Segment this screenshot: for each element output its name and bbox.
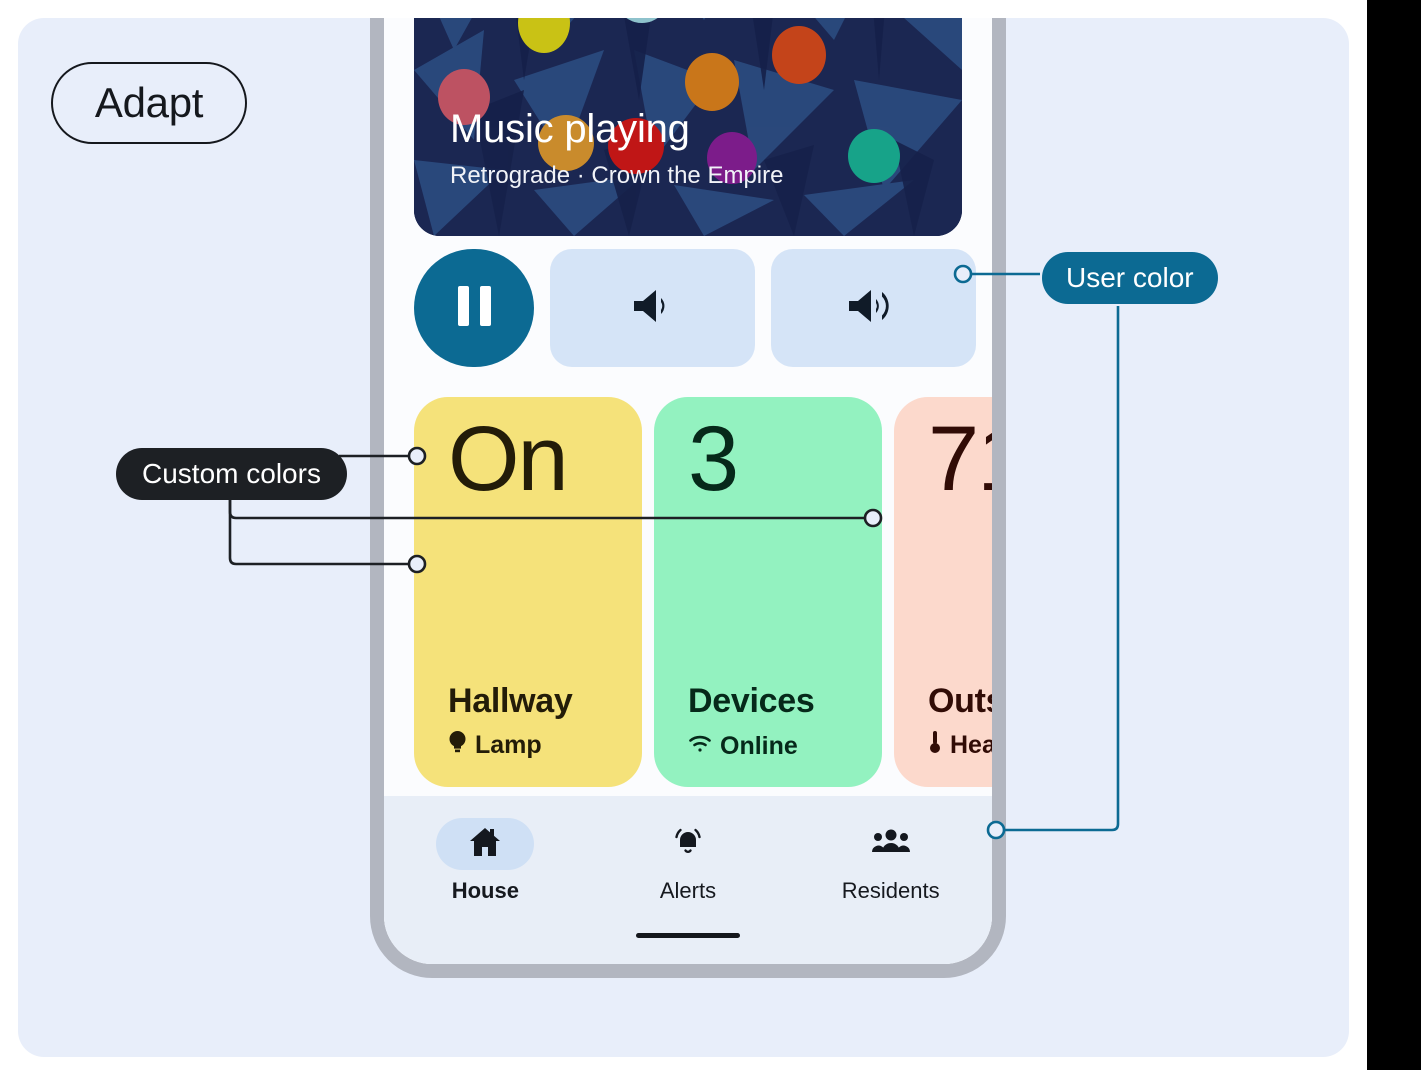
phone-frame: 3 speakers Music playing Retrograde · Cr… xyxy=(370,18,1006,978)
tile-row: On Hallway Lamp 3 Devices xyxy=(414,397,992,787)
nav-item-house[interactable]: House xyxy=(384,818,587,964)
page-sheet: Adapt xyxy=(0,0,1367,1070)
bell-icon xyxy=(671,825,705,864)
tile-name: Devices xyxy=(688,682,814,721)
phone-screen: 3 speakers Music playing Retrograde · Cr… xyxy=(384,18,992,964)
volume-up-icon xyxy=(847,286,901,331)
tile-outside[interactable]: 71 Outside Heating xyxy=(894,397,992,787)
play-pause-button[interactable] xyxy=(414,249,534,367)
annotation-label: User color xyxy=(1066,262,1194,294)
design-canvas: Adapt xyxy=(18,18,1349,1057)
nav-item-alerts[interactable]: Alerts xyxy=(587,818,790,964)
nav-label: Residents xyxy=(842,878,940,904)
annotation-user-color: User color xyxy=(1042,252,1218,304)
adapt-badge: Adapt xyxy=(51,62,247,144)
tile-status-label: Heating xyxy=(950,731,992,760)
adapt-label: Adapt xyxy=(95,79,203,127)
nav-item-residents[interactable]: Residents xyxy=(789,818,992,964)
tile-status: Online xyxy=(688,732,798,761)
tile-value: 3 xyxy=(688,413,737,505)
nav-pill xyxy=(639,818,737,870)
tile-hallway[interactable]: On Hallway Lamp xyxy=(414,397,642,787)
nav-pill xyxy=(436,818,534,870)
tile-status-label: Lamp xyxy=(475,731,542,760)
pause-icon xyxy=(458,286,491,331)
tile-name: Hallway xyxy=(448,682,573,721)
home-indicator xyxy=(636,933,740,938)
tile-value: On xyxy=(448,413,567,505)
tile-status: Lamp xyxy=(448,730,542,761)
volume-up-button[interactable] xyxy=(771,249,976,367)
bottom-navigation: House xyxy=(384,796,992,964)
nav-label: House xyxy=(452,878,519,904)
tile-status: Heating xyxy=(928,730,992,761)
tile-value: 71 xyxy=(928,413,992,505)
tile-devices[interactable]: 3 Devices Online xyxy=(654,397,882,787)
media-controls xyxy=(414,249,992,367)
lightbulb-icon xyxy=(448,730,467,761)
annotation-custom-colors: Custom colors xyxy=(116,448,347,500)
tile-status-label: Online xyxy=(720,732,798,761)
nav-label: Alerts xyxy=(660,878,716,904)
wifi-icon xyxy=(688,732,712,761)
thermometer-icon xyxy=(928,730,942,761)
volume-down-icon xyxy=(630,286,676,331)
now-playing-title: Music playing xyxy=(450,107,690,152)
home-icon xyxy=(468,826,502,863)
volume-down-button[interactable] xyxy=(550,249,755,367)
annotation-label: Custom colors xyxy=(142,458,321,490)
nav-pill xyxy=(842,818,940,870)
now-playing-card[interactable]: 3 speakers Music playing Retrograde · Cr… xyxy=(414,18,962,236)
now-playing-subtitle: Retrograde · Crown the Empire xyxy=(450,162,783,190)
people-icon xyxy=(871,827,911,862)
tile-name: Outside xyxy=(928,682,992,721)
